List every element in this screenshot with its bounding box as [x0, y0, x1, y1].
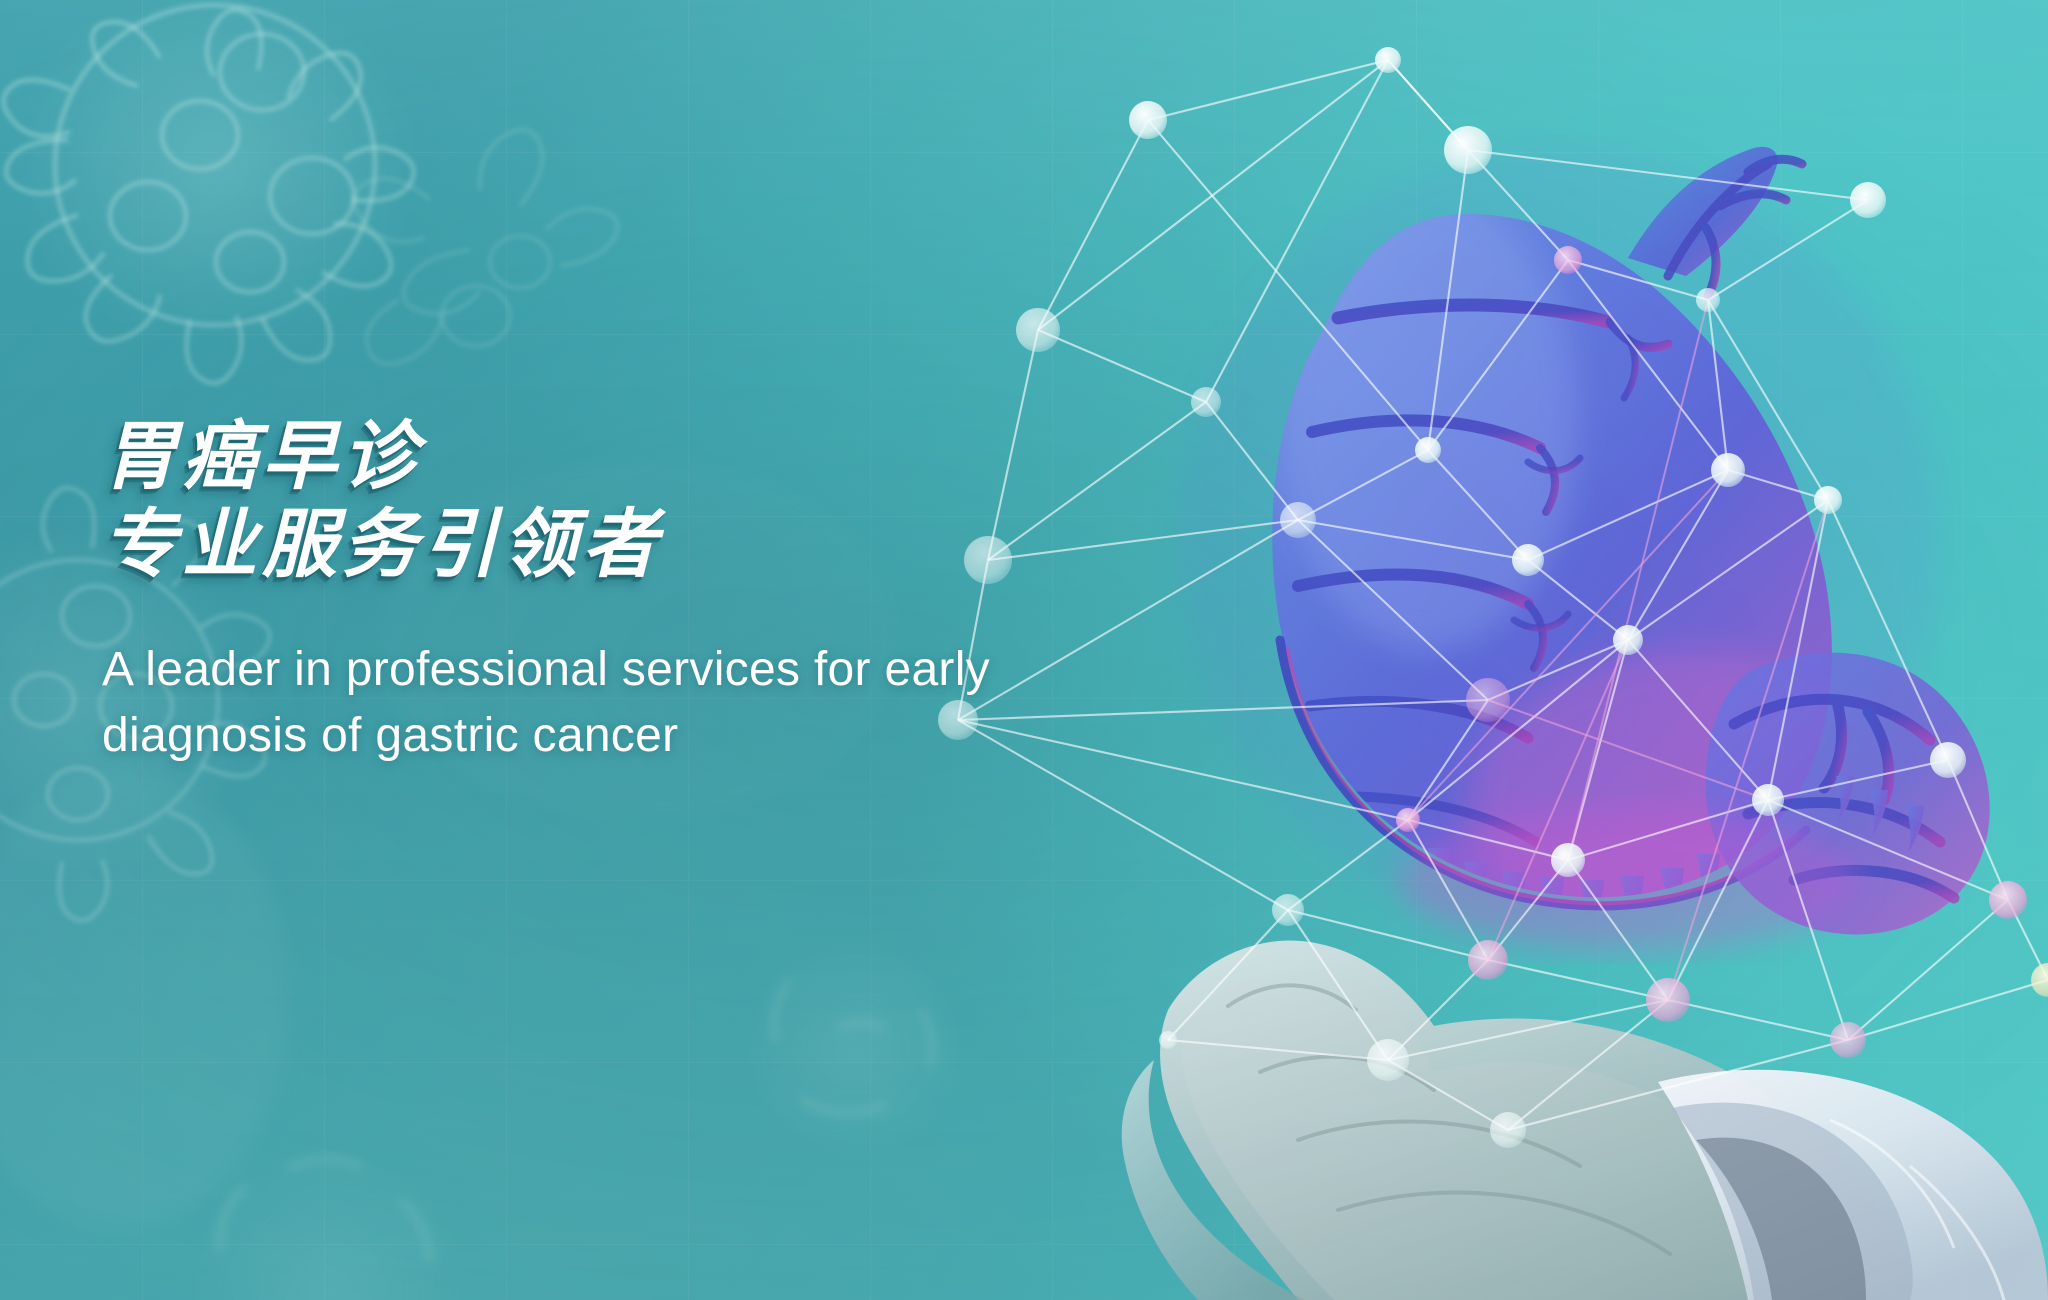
subtitle-line-1: A leader in professional services for ea…: [102, 637, 1102, 703]
hero-copy: 胃癌早诊 专业服务引领者 A leader in professional se…: [102, 415, 1102, 769]
organ-lower-bloom: [1398, 810, 1858, 950]
subtitle-line-2: diagnosis of gastric cancer: [102, 703, 1102, 769]
subtitle: A leader in professional services for ea…: [102, 637, 1102, 769]
headline-line-1: 胃癌早诊: [102, 415, 1102, 497]
hero-banner: 胃癌早诊 专业服务引领者 A leader in professional se…: [0, 0, 2048, 1300]
headline-line-2: 专业服务引领者: [102, 503, 1102, 585]
